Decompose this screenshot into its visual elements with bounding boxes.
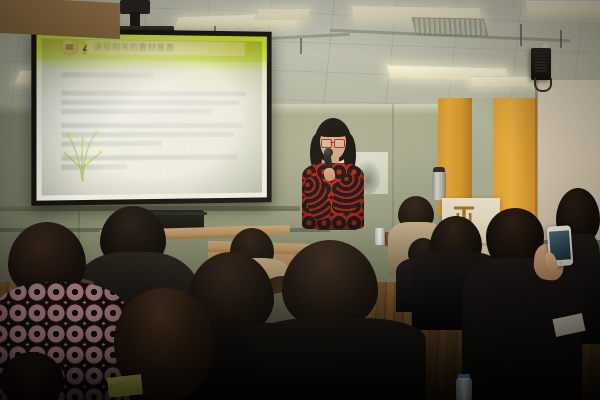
slide-title: 课程相关的教材推荐: [94, 41, 242, 55]
slide-text-line: [61, 72, 154, 78]
presenter: [294, 118, 372, 228]
wall-speaker-icon: [531, 48, 551, 80]
ceiling-light-panel: [525, 0, 600, 15]
glasses-right-lens: [334, 139, 345, 148]
water-bottle: [375, 228, 384, 245]
photo-scene: 4 课程相关的教材推荐: [0, 0, 600, 400]
table-front-panel: [0, 0, 120, 39]
ceiling-light-panel: [254, 8, 312, 20]
yellow-notepad: [107, 374, 143, 397]
glasses-left-lens: [321, 139, 332, 148]
presenter-bangs: [318, 126, 348, 137]
ceiling-hanger-rod: [300, 38, 302, 54]
phone-home-button-icon: [559, 261, 563, 265]
slide-text-line: [61, 91, 246, 97]
eyeglasses-icon: [321, 139, 345, 146]
audience-body: [250, 318, 426, 400]
projection-screen: 4 课程相关的教材推荐: [31, 28, 271, 206]
screen-surface: 4 课程相关的教材推荐: [36, 33, 266, 200]
ceiling-hanger-rod: [520, 24, 522, 46]
ceiling-hanger-rod: [560, 30, 562, 48]
grass-decoration-icon: [55, 109, 110, 182]
slide-text-line: [61, 100, 238, 105]
thermos-icon: [432, 172, 446, 200]
slide-badge-icon: [61, 39, 77, 55]
presentation-slide: 4 课程相关的教材推荐: [36, 33, 266, 200]
speaker-bracket: [534, 78, 552, 92]
water-bottle: [456, 378, 472, 400]
